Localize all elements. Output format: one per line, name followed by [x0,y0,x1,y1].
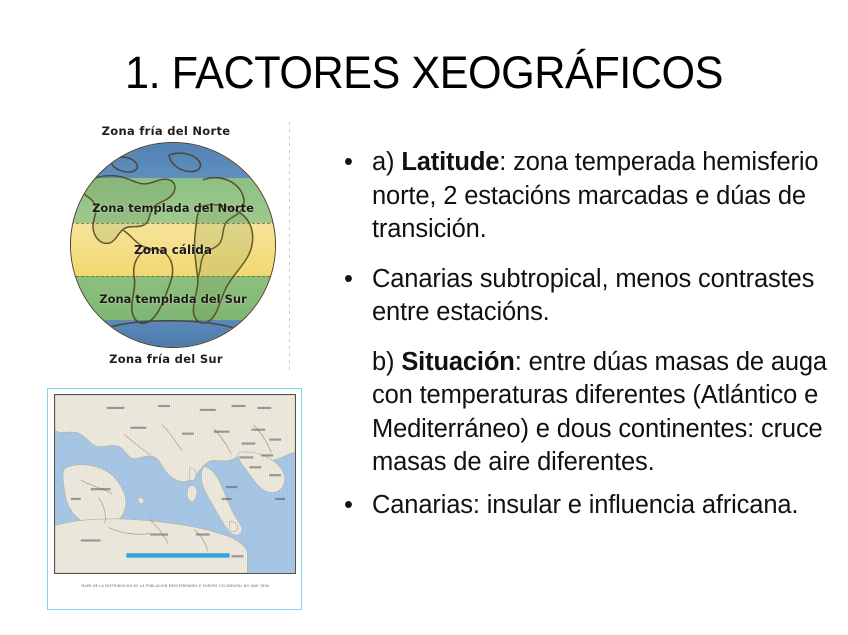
page-title: 1. FACTORES XEOGRÁFICOS [17,46,831,100]
run-b-prefix: b) [372,348,401,376]
run-latitude-bold: Latitude [401,148,499,176]
run-a-prefix: a) [372,148,401,176]
run-canarias-insular: Canarias: insular e influencia africana. [372,491,798,519]
globe-caption-bottom: Zona fría del Sur [48,352,284,366]
globe-caption-top: Zona fría del Norte [48,124,284,138]
bullet-item-canarias-insular: •Canarias: insular e influencia africana… [336,489,844,523]
globe-graphic: Zona templada del Norte Zona cálida Zona… [70,142,276,348]
run-situacion-bold: Situación [401,348,514,376]
bullet-glyph: • [344,263,353,297]
bullet-glyph: • [344,489,353,523]
mediterranean-map-figure: MAPA DE LA DISTRIBUCIÓN DE LA POBLACIÓN … [47,388,302,610]
climate-zones-globe-figure: Zona fría del Norte [56,122,292,370]
slide-canvas: 1. FACTORES XEOGRÁFICOS Zona fría del No… [0,0,848,635]
continents-outline-icon [71,143,275,347]
globe-sphere: Zona templada del Norte Zona cálida Zona… [70,142,276,348]
map-landmass-icon [55,395,295,573]
map-image [54,394,296,574]
bullet-item-canarias-subtropical: •Canarias subtropical, menos contrastes … [336,263,844,330]
bullet-glyph: • [344,146,353,180]
figure-placeholder-edge [289,122,290,370]
content-text-column: •a) Latitude: zona temperada hemisferio … [336,146,844,531]
run-canarias-subtropical: Canarias subtropical, menos contrastes e… [372,265,814,327]
map-caption: MAPA DE LA DISTRIBUCIÓN DE LA POBLACIÓN … [48,583,303,589]
block-item-situacion: b) Situación: entre dúas masas de auga c… [336,346,844,480]
bullet-item-latitude: •a) Latitude: zona temperada hemisferio … [336,146,844,247]
